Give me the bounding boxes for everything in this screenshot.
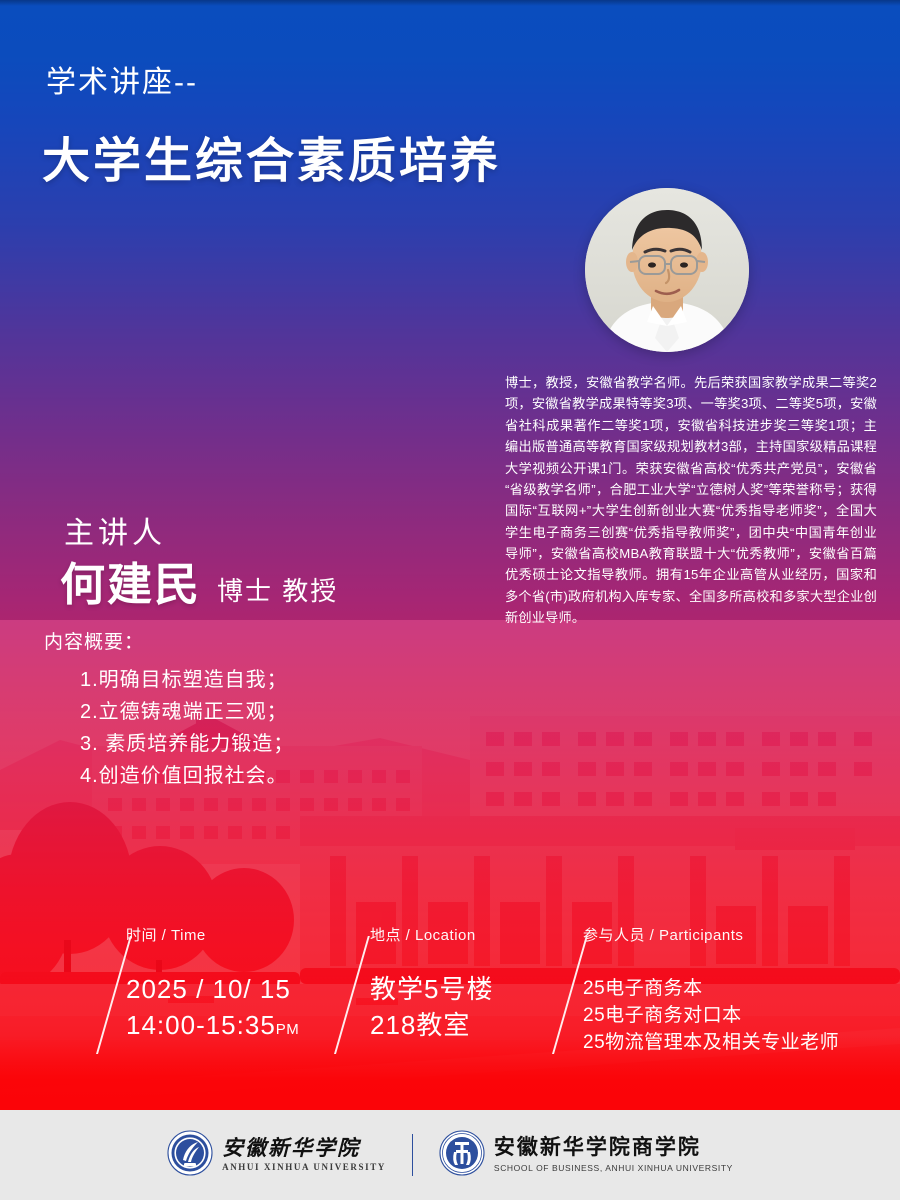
footer-divider: [412, 1134, 413, 1176]
poster-kicker: 学术讲座--: [46, 68, 198, 98]
speaker-name: 何建民: [60, 562, 201, 607]
event-location-heading: 地点 / Location: [370, 928, 493, 943]
event-location-value: 教学5号楼: [370, 971, 493, 1007]
event-clock-ampm: PM: [276, 1021, 300, 1038]
slash-divider-2: [334, 936, 370, 1054]
event-details-bar: 时间 / Time 2025 / 10/ 15 14:00-15:35PM 地点…: [0, 928, 900, 1073]
school-emblem-icon: [439, 1130, 485, 1181]
speaker-identity: 何建民 博士 教授: [60, 562, 338, 607]
participant-group: 25物流管理本及相关专业老师: [583, 1029, 839, 1056]
event-clock-value: 14:00-15:35PM: [126, 1007, 299, 1048]
agenda-title: 内容概要：: [44, 633, 144, 652]
university-name-cn: 安徽新华学院: [222, 1136, 386, 1160]
school-logo-unit: 安徽新华学院商学院 SCHOOL OF BUSINESS, ANHUI XINH…: [439, 1130, 733, 1181]
participant-group: 25电子商务本: [583, 975, 839, 1002]
university-name-en: ANHUI XINHUA UNIVERSITY: [222, 1162, 386, 1174]
university-emblem-icon: [167, 1130, 213, 1181]
speaker-label: 主讲人: [64, 519, 166, 549]
school-name-en: SCHOOL OF BUSINESS, ANHUI XINHUA UNIVERS…: [494, 1163, 733, 1174]
event-clock-range: 14:00-15:35: [126, 1010, 276, 1040]
event-date-value: 2025 / 10/ 15: [126, 971, 299, 1007]
agenda-item: 3. 素质培养能力锻造；: [80, 728, 294, 760]
event-location-value: 218教室: [370, 1007, 493, 1043]
event-time-heading: 时间 / Time: [126, 928, 299, 943]
speaker-biography: 博士，教授，安徽省教学名师。先后荣获国家教学成果二等奖2项，安徽省教学成果特等奖…: [505, 372, 877, 629]
speaker-portrait: [585, 188, 749, 352]
event-time-column: 时间 / Time 2025 / 10/ 15 14:00-15:35PM: [126, 928, 299, 1048]
speaker-titles: 博士 教授: [217, 578, 338, 604]
event-location-column: 地点 / Location 教学5号楼 218教室: [370, 928, 493, 1043]
poster-headline: 大学生综合素质培养: [42, 136, 501, 189]
lecture-poster: 学术讲座-- 大学生综合素质培养: [0, 0, 900, 1200]
school-name-cn: 安徽新华学院商学院: [494, 1136, 733, 1160]
agenda-item: 2.立德铸魂端正三观；: [80, 696, 294, 728]
event-participants-column: 参与人员 / Participants 25电子商务本 25电子商务对口本 25…: [583, 928, 839, 1056]
agenda-list: 1.明确目标塑造自我； 2.立德铸魂端正三观； 3. 素质培养能力锻造； 4.创…: [80, 664, 294, 792]
agenda-item: 4.创造价值回报社会。: [80, 760, 294, 792]
school-logo-text: 安徽新华学院商学院 SCHOOL OF BUSINESS, ANHUI XINH…: [494, 1136, 733, 1173]
top-shade: [0, 0, 900, 6]
university-logo-unit: 安徽新华学院 ANHUI XINHUA UNIVERSITY: [167, 1130, 386, 1181]
poster-footer: 安徽新华学院 ANHUI XINHUA UNIVERSITY 安徽新华学院商学院…: [0, 1110, 900, 1200]
event-participants-heading: 参与人员 / Participants: [583, 928, 839, 943]
agenda-item: 1.明确目标塑造自我；: [80, 664, 294, 696]
university-logo-text: 安徽新华学院 ANHUI XINHUA UNIVERSITY: [222, 1136, 386, 1174]
participant-group: 25电子商务对口本: [583, 1002, 839, 1029]
